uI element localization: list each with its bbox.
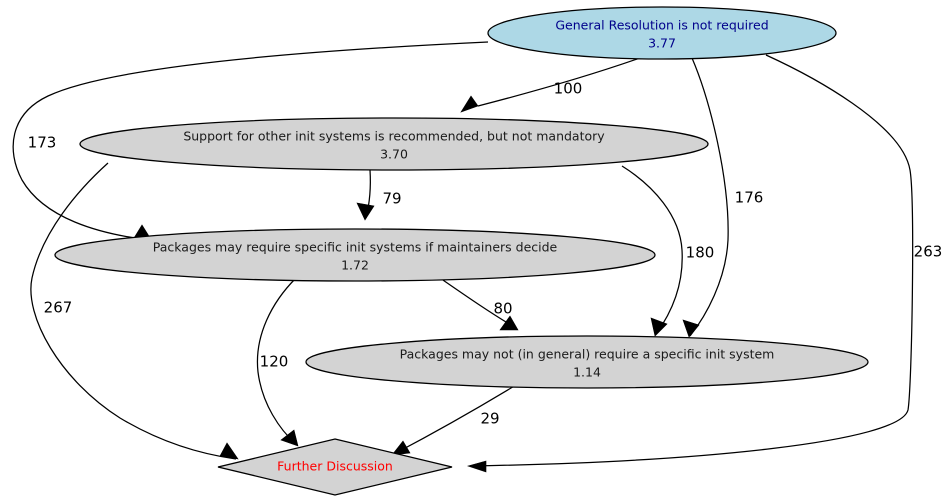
- node-label-line1: Further Discussion: [277, 459, 393, 474]
- edge-gr-to-notrequire[interactable]: [683, 58, 728, 337]
- edge-path: [690, 58, 728, 336]
- node-ellipse: [80, 118, 708, 170]
- node-label-line2: 3.70: [380, 147, 408, 162]
- arrow-head: [357, 203, 374, 220]
- arrow-head: [468, 461, 486, 472]
- node-packages-may-not-require[interactable]: Packages may not (in general) require a …: [306, 336, 868, 388]
- node-support-other-init-systems[interactable]: Support for other init systems is recomm…: [80, 118, 708, 170]
- node-label-line2: 1.14: [573, 365, 601, 380]
- node-packages-may-require[interactable]: Packages may require specific init syste…: [55, 229, 655, 281]
- edge-label-79: 79: [382, 190, 401, 208]
- node-label-line1: General Resolution is not required: [555, 18, 768, 33]
- node-label-line1: Packages may not (in general) require a …: [400, 347, 775, 362]
- node-general-resolution-not-required[interactable]: General Resolution is not required 3.77: [488, 7, 836, 59]
- edge-support-to-require[interactable]: [357, 170, 374, 220]
- edge-label-267: 267: [44, 299, 73, 317]
- node-label-line1: Packages may require specific init syste…: [153, 240, 558, 255]
- node-label-line2: 3.77: [648, 36, 676, 51]
- arrow-head: [220, 443, 238, 459]
- diagram-canvas: 100 173 176 263 79 180 267 80 120 29 Gen…: [0, 0, 952, 496]
- node-label-line2: 1.72: [341, 258, 369, 273]
- edge-label-263: 263: [914, 243, 943, 261]
- arrow-head: [500, 316, 518, 330]
- node-ellipse: [488, 7, 836, 59]
- edge-label-29: 29: [480, 410, 499, 428]
- arrow-head: [281, 430, 298, 446]
- edge-label-100: 100: [554, 80, 583, 98]
- node-label-line1: Support for other init systems is recomm…: [183, 129, 605, 144]
- node-further-discussion[interactable]: Further Discussion: [218, 439, 452, 495]
- nodes-layer: General Resolution is not required 3.77 …: [55, 7, 868, 495]
- arrow-head: [461, 96, 478, 112]
- vote-graph: 100 173 176 263 79 180 267 80 120 29 Gen…: [0, 0, 952, 496]
- edge-label-180: 180: [686, 244, 715, 262]
- edge-label-173: 173: [28, 134, 57, 152]
- node-ellipse: [55, 229, 655, 281]
- node-ellipse: [306, 336, 868, 388]
- edge-label-176: 176: [735, 189, 764, 207]
- arrow-head: [683, 320, 699, 337]
- edge-label-80: 80: [493, 300, 512, 318]
- edge-gr-to-support[interactable]: [461, 58, 640, 112]
- edge-label-120: 120: [260, 353, 289, 371]
